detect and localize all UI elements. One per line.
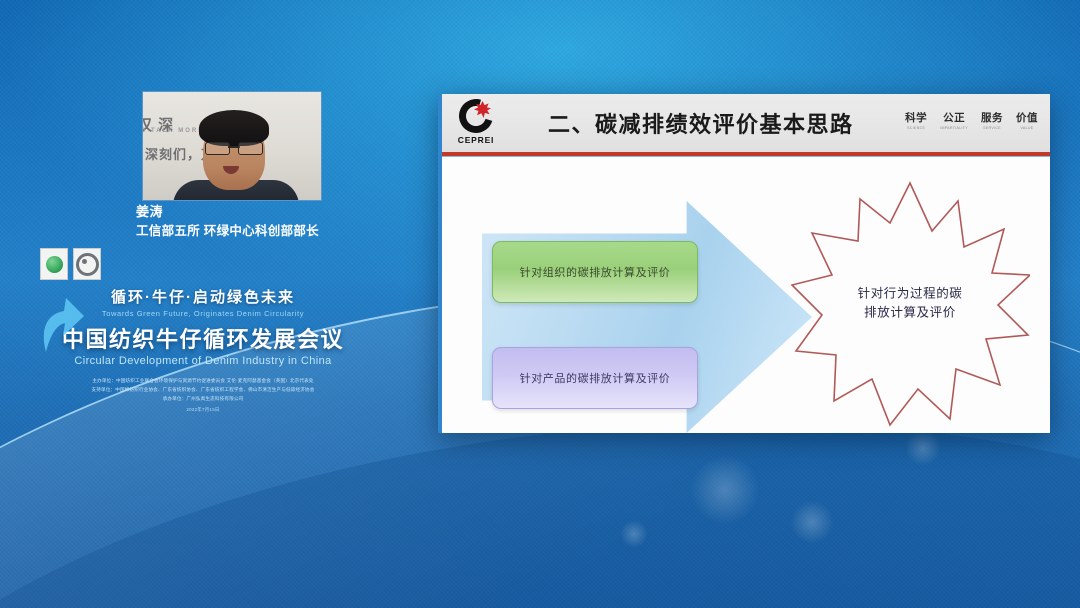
value-label-cn: 服务: [981, 110, 1003, 125]
whiteboard-text-line2: D TALK MORE: [142, 128, 204, 134]
value-item: 公正 IMPARTIALITY: [940, 110, 968, 130]
green-globe-logo-icon: [40, 248, 68, 280]
shared-slide[interactable]: CEPREI 二、碳减排绩效评价基本思路 科学 SCIENCE 公正 IMPAR…: [438, 94, 1050, 433]
fineprint-line: 主办单位：中国纺织工业联合会环境保护与资源节约促进委员会 艾伦·麦克阿瑟基金会（…: [28, 376, 378, 385]
ceprei-mark-icon: [459, 99, 493, 133]
speaker-hair: [199, 110, 269, 146]
value-item: 科学 SCIENCE: [905, 110, 927, 130]
bokeh-dot: [790, 500, 834, 544]
starburst-line-1: 针对行为过程的碳: [858, 285, 963, 304]
speaker-nameplate: 姜涛 工信部五所 环绿中心科创部部长: [136, 203, 319, 240]
slide-title: 二、碳减排绩效评价基本思路: [548, 107, 854, 139]
org-carbon-box: 针对组织的碳排放计算及评价: [492, 241, 698, 303]
presentation-stage: 汉 深 D TALK MORE 深刻们，万壁 姜涛 工信部五所 环绿中心科创部部…: [0, 0, 1080, 608]
brand-values: 科学 SCIENCE 公正 IMPARTIALITY 服务 SERVICE 价值…: [905, 110, 1038, 130]
bokeh-dot: [690, 455, 760, 525]
grey-spiral-logo-icon: [73, 248, 101, 280]
glasses-icon: [205, 142, 263, 153]
fineprint-line: 承办单位：广州弘禹生态科技有限公司: [28, 394, 378, 403]
speaker-video-tile[interactable]: 汉 深 D TALK MORE 深刻们，万壁: [142, 91, 322, 201]
slide-content: 针对组织的碳排放计算及评价 针对产品的碳排放计算及评价 针对行为过程的碳 排放计…: [442, 157, 1050, 433]
value-label-en: SERVICE: [981, 126, 1003, 130]
bokeh-dot: [620, 520, 648, 548]
organizer-fineprint: 主办单位：中国纺织工业联合会环境保护与资源节约促进委员会 艾伦·麦克阿瑟基金会（…: [28, 376, 378, 404]
conference-date: 2022年7月15日: [28, 407, 378, 413]
org-carbon-box-label: 针对组织的碳排放计算及评价: [520, 264, 671, 280]
starburst-line-2: 排放计算及评价: [858, 304, 963, 323]
circular-arrow-icon: [34, 292, 100, 364]
bokeh-dot: [905, 430, 941, 466]
value-label-en: VALUE: [1016, 126, 1038, 130]
value-label-en: IMPARTIALITY: [940, 126, 968, 130]
starburst-callout: 针对行为过程的碳 排放计算及评价: [790, 179, 1030, 429]
organizer-badges: [40, 248, 101, 280]
value-item: 价值 VALUE: [1016, 110, 1038, 130]
value-item: 服务 SERVICE: [981, 110, 1003, 130]
value-label-cn: 科学: [905, 110, 927, 125]
ceprei-logo: CEPREI: [448, 99, 504, 149]
product-carbon-box-label: 针对产品的碳排放计算及评价: [520, 370, 671, 386]
product-carbon-box: 针对产品的碳排放计算及评价: [492, 347, 698, 409]
speaker-title: 工信部五所 环绿中心科创部部长: [136, 222, 319, 240]
value-label-cn: 价值: [1016, 110, 1038, 125]
conference-branding: 循环·牛仔·启动绿色未来 Towards Green Future, Origi…: [28, 286, 378, 413]
starburst-label: 针对行为过程的碳 排放计算及评价: [858, 285, 963, 324]
value-label-cn: 公正: [940, 110, 968, 125]
ceprei-wordmark: CEPREI: [448, 135, 504, 145]
fineprint-line: 支持单位：中国棉纺织行业协会、广东省纺织协会、广东省纺织工程学会、佛山市清洁生产…: [28, 385, 378, 394]
speaker-name: 姜涛: [136, 203, 319, 222]
value-label-en: SCIENCE: [905, 126, 927, 130]
